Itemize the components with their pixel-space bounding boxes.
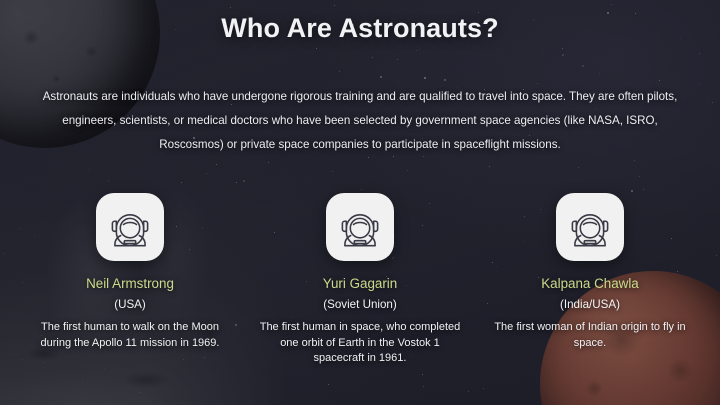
astronaut-name: Yuri Gagarin [323, 276, 397, 291]
astronaut-country: (USA) [114, 298, 146, 311]
astronaut-country: (India/USA) [560, 298, 620, 311]
astronaut-card-2[interactable]: Yuri Gagarin (Soviet Union) The first hu… [245, 193, 475, 367]
intro-paragraph: Astronauts are individuals who have unde… [32, 85, 688, 157]
astronaut-country: (Soviet Union) [323, 298, 396, 311]
page-title: Who Are Astronauts? [0, 13, 720, 44]
slide-canvas: Who Are Astronauts? Astronauts are indiv… [0, 0, 720, 405]
astronaut-helmet-icon [96, 193, 164, 261]
astronaut-description: The first human in space, who completed … [256, 320, 464, 367]
astronaut-helmet-icon [556, 193, 624, 261]
astronaut-name: Kalpana Chawla [541, 276, 639, 291]
astronaut-description: The first human to walk on the Moon duri… [26, 320, 234, 351]
astronaut-description: The first woman of Indian origin to fly … [486, 320, 694, 351]
astronaut-card-1[interactable]: Neil Armstrong (USA) The first human to … [15, 193, 245, 351]
astronaut-card-list: Neil Armstrong (USA) The first human to … [0, 193, 720, 367]
astronaut-name: Neil Armstrong [86, 276, 174, 291]
slide-content: Who Are Astronauts? Astronauts are indiv… [0, 0, 720, 405]
astronaut-helmet-icon [326, 193, 394, 261]
astronaut-card-3[interactable]: Kalpana Chawla (India/USA) The first wom… [475, 193, 705, 351]
